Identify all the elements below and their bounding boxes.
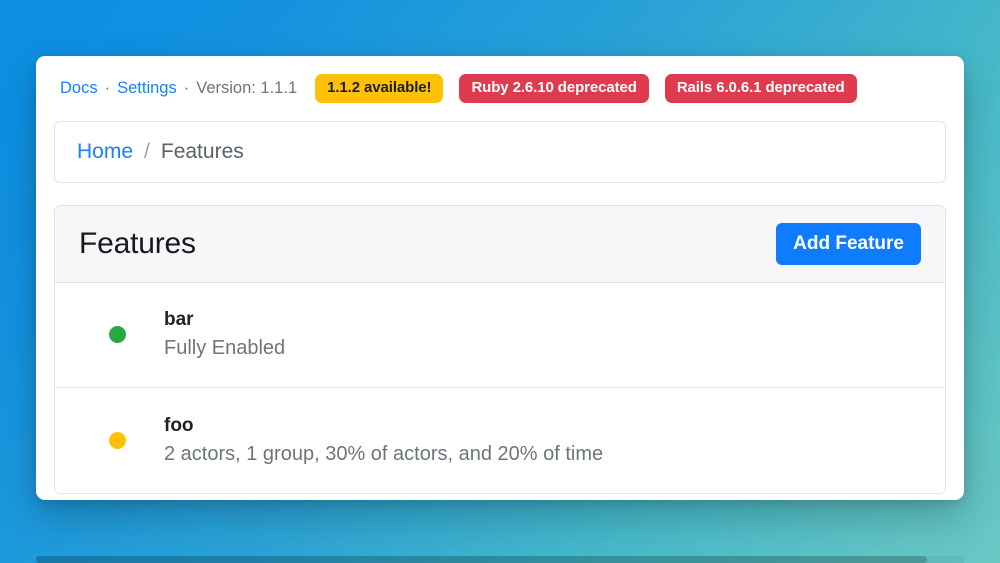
breadcrumb: Home / Features xyxy=(54,121,946,183)
app-window: Docs · Settings · Version: 1.1.1 1.1.2 a… xyxy=(36,56,964,500)
breadcrumb-current-features: Features xyxy=(161,140,244,164)
status-dot-partial-icon xyxy=(109,432,126,449)
features-panel-header: Features Add Feature xyxy=(55,206,945,283)
version-label: Version: 1.1.1 xyxy=(196,79,297,98)
feature-list-item-foo[interactable]: foo 2 actors, 1 group, 30% of actors, an… xyxy=(55,388,945,493)
page-title: Features xyxy=(79,227,196,261)
add-feature-button[interactable]: Add Feature xyxy=(776,223,921,265)
feature-text-group: bar Fully Enabled xyxy=(164,308,285,361)
feature-list: bar Fully Enabled foo 2 actors, 1 group,… xyxy=(55,283,945,493)
features-panel: Features Add Feature bar Fully Enabled f… xyxy=(54,205,946,494)
nav-link-docs[interactable]: Docs xyxy=(60,79,98,98)
nav-separator-1: · xyxy=(98,79,118,98)
top-navigation-bar: Docs · Settings · Version: 1.1.1 1.1.2 a… xyxy=(36,56,964,113)
feature-list-item-bar[interactable]: bar Fully Enabled xyxy=(55,283,945,388)
rails-deprecated-badge[interactable]: Rails 6.0.6.1 deprecated xyxy=(665,74,857,103)
feature-description: 2 actors, 1 group, 30% of actors, and 20… xyxy=(164,442,603,467)
nav-separator-2: · xyxy=(177,79,197,98)
scrollbar-thumb[interactable] xyxy=(36,556,927,563)
feature-name: bar xyxy=(164,308,285,332)
update-available-badge[interactable]: 1.1.2 available! xyxy=(315,74,443,103)
status-dot-enabled-icon xyxy=(109,326,126,343)
horizontal-scrollbar[interactable] xyxy=(36,556,964,563)
feature-description: Fully Enabled xyxy=(164,336,285,361)
ruby-deprecated-badge[interactable]: Ruby 2.6.10 deprecated xyxy=(459,74,648,103)
feature-name: foo xyxy=(164,414,603,438)
breadcrumb-link-home[interactable]: Home xyxy=(77,140,133,164)
breadcrumb-divider: / xyxy=(133,140,161,164)
feature-text-group: foo 2 actors, 1 group, 30% of actors, an… xyxy=(164,414,603,467)
nav-link-settings[interactable]: Settings xyxy=(117,79,177,98)
